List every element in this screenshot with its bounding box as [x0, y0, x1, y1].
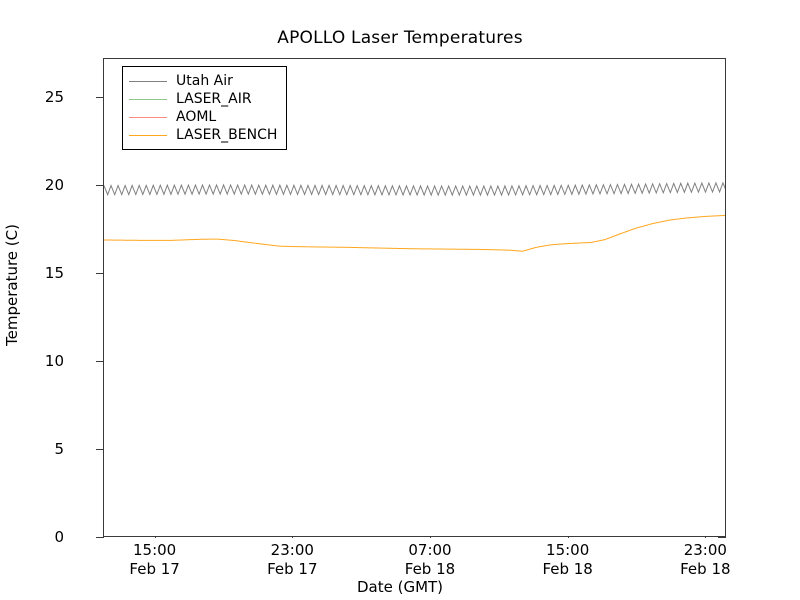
- x-tick-date: Feb 18: [360, 560, 500, 579]
- legend-item[interactable]: LASER_AIR: [129, 90, 277, 108]
- x-tick-date: Feb 17: [85, 560, 225, 579]
- legend-item-label: AOML: [176, 109, 216, 125]
- x-tick-time: 23:00: [222, 541, 362, 560]
- x-tick-label: 23:00Feb 17: [222, 541, 362, 579]
- legend-line-icon: [129, 117, 167, 118]
- x-axis-label: Date (GMT): [0, 578, 800, 596]
- y-tick-label: 15: [4, 264, 64, 282]
- x-tick-time: 15:00: [498, 541, 638, 560]
- x-tick-time: 23:00: [635, 541, 775, 560]
- x-tick-label: 15:00Feb 17: [85, 541, 225, 579]
- x-tick-label: 07:00Feb 18: [360, 541, 500, 579]
- x-tick-time: 15:00: [85, 541, 225, 560]
- legend-line-icon: [129, 81, 167, 82]
- y-tick-label: 20: [4, 176, 64, 194]
- chart-legend: Utah AirLASER_AIRAOMLLASER_BENCH: [122, 66, 287, 150]
- legend-item[interactable]: AOML: [129, 108, 277, 126]
- y-tick-label: 5: [4, 440, 64, 458]
- legend-line-icon: [129, 99, 167, 100]
- y-tick-mark: [96, 537, 104, 538]
- y-tick-label: 25: [4, 88, 64, 106]
- x-tick-label: 15:00Feb 18: [498, 541, 638, 579]
- y-axis-label: Temperature (C): [3, 75, 21, 495]
- legend-item-label: LASER_BENCH: [176, 127, 277, 143]
- x-tick-date: Feb 18: [498, 560, 638, 579]
- legend-item-label: LASER_AIR: [176, 91, 252, 107]
- series-line-utah-air: [104, 183, 725, 195]
- x-tick-time: 07:00: [360, 541, 500, 560]
- legend-item[interactable]: Utah Air: [129, 72, 277, 90]
- y-tick-mark: [718, 537, 726, 538]
- chart-page: APOLLO Laser Temperatures Temperature (C…: [0, 0, 800, 600]
- legend-line-icon: [129, 135, 167, 136]
- x-tick-label: 23:00Feb 18: [635, 541, 775, 579]
- series-line-laser-bench: [104, 215, 725, 251]
- y-tick-label: 0: [4, 528, 64, 546]
- y-tick-label: 10: [4, 352, 64, 370]
- chart-title: APOLLO Laser Temperatures: [0, 28, 800, 48]
- x-tick-date: Feb 17: [222, 560, 362, 579]
- legend-item-label: Utah Air: [176, 73, 233, 89]
- x-tick-date: Feb 18: [635, 560, 775, 579]
- legend-item[interactable]: LASER_BENCH: [129, 126, 277, 144]
